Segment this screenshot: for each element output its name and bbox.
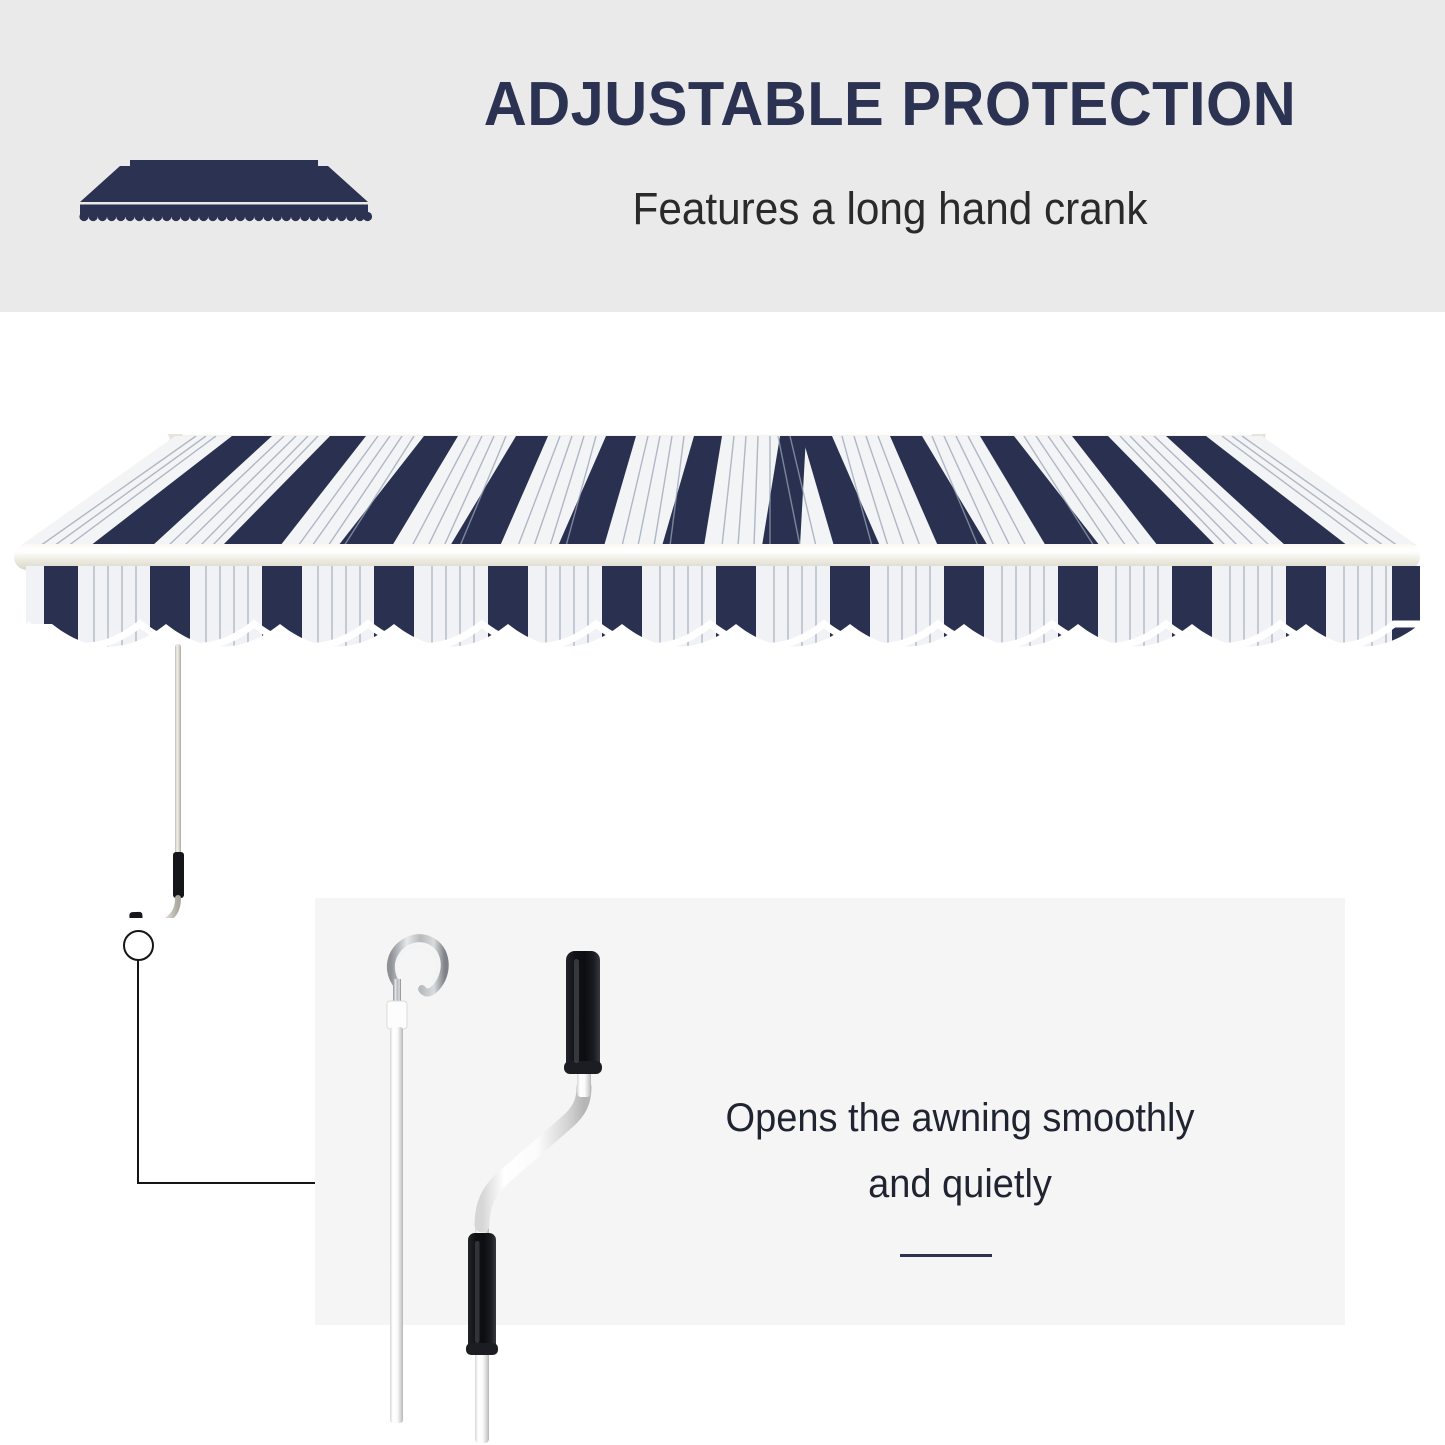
hand-crank-photo — [370, 915, 700, 1445]
page-title: ADJUSTABLE PROTECTION — [410, 74, 1370, 136]
product-feature-image: ADJUSTABLE PROTECTION Features a long ha… — [0, 0, 1445, 1445]
callout-leader-line-horizontal — [137, 1182, 315, 1184]
callout-leader-line-vertical — [137, 960, 139, 1184]
detail-caption-line-1: Opens the awning smoothly — [704, 1085, 1217, 1151]
page-subtitle: Features a long hand crank — [420, 182, 1360, 236]
retractable-awning-photo — [0, 418, 1445, 918]
crank-handle-callout-marker — [123, 930, 154, 961]
detail-caption-line-2: and quietly — [704, 1151, 1217, 1217]
awning-icon — [74, 152, 374, 226]
detail-caption: Opens the awning smoothly and quietly — [704, 1085, 1217, 1217]
detail-caption-rule — [900, 1254, 992, 1257]
